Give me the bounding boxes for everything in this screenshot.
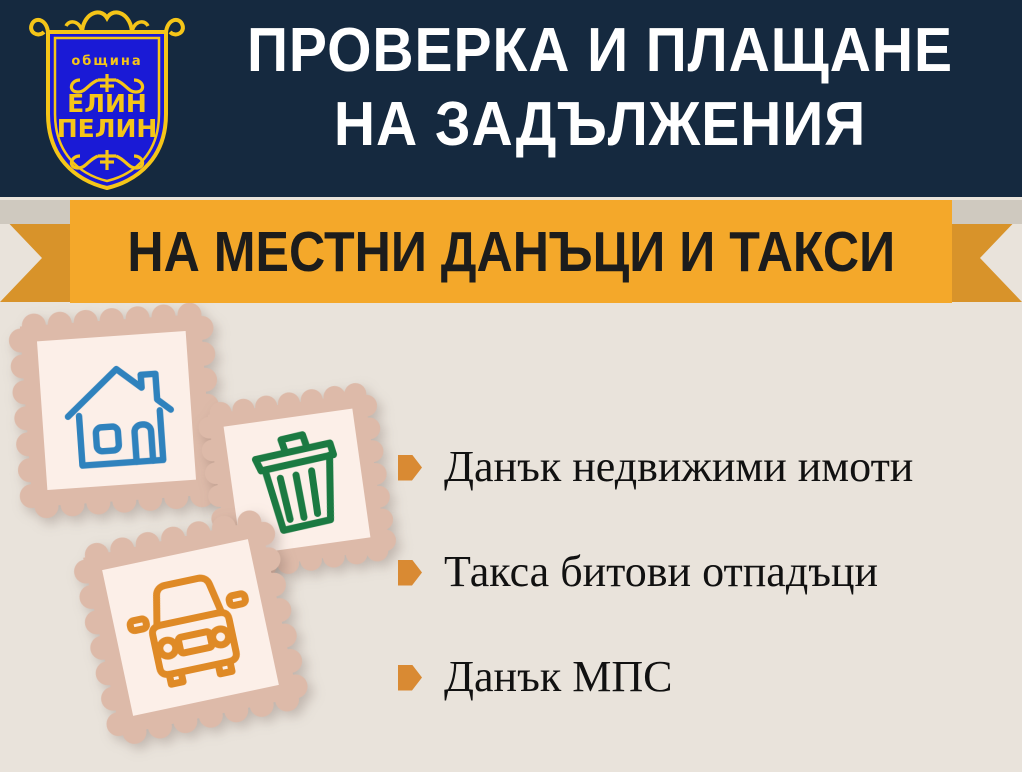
list-item-label: Данък недвижими имоти xyxy=(444,444,913,490)
title-line-2: НА ЗАДЪЛЖЕНИЯ xyxy=(223,88,977,162)
stamp-card-house xyxy=(7,301,226,520)
list-item-label: Такса битови отпадъци xyxy=(444,549,878,595)
page-title: ПРОВЕРКА И ПЛАЩАНЕ НА ЗАДЪЛЖЕНИЯ xyxy=(190,14,1010,162)
ribbon-label: НА МЕСТНИ ДАНЪЦИ И ТАКСИ xyxy=(127,219,895,285)
arrow-bullet-icon xyxy=(398,665,422,691)
subtitle-ribbon: НА МЕСТНИ ДАНЪЦИ И ТАКСИ xyxy=(0,200,1022,305)
title-line-1: ПРОВЕРКА И ПЛАЩАНЕ xyxy=(223,14,977,88)
arrow-bullet-icon xyxy=(398,560,422,586)
tax-type-list: Данък недвижими имоти Такса битови отпад… xyxy=(398,415,1008,730)
list-item[interactable]: Такса битови отпадъци xyxy=(398,520,1008,625)
municipality-logo: община ЕЛИН ПЕЛИН xyxy=(22,4,192,194)
list-item[interactable]: Данък МПС xyxy=(398,625,1008,730)
poster-canvas: община ЕЛИН ПЕЛИН ПРОВЕРКА И ПЛАЩАНЕ НА … xyxy=(0,0,1022,772)
stamp-card-group xyxy=(0,300,420,772)
list-item[interactable]: Данък недвижими имоти xyxy=(398,415,1008,520)
logo-label-name: ЕЛИН ПЕЛИН xyxy=(22,92,192,141)
ribbon-band: НА МЕСТНИ ДАНЪЦИ И ТАКСИ xyxy=(70,200,952,303)
logo-label-obshtina: община xyxy=(22,54,192,69)
arrow-bullet-icon xyxy=(398,455,422,481)
header-bar: община ЕЛИН ПЕЛИН ПРОВЕРКА И ПЛАЩАНЕ НА … xyxy=(0,0,1022,197)
list-item-label: Данък МПС xyxy=(444,654,672,700)
logo-name-line1: ЕЛИН xyxy=(22,92,192,117)
logo-name-line2: ПЕЛИН xyxy=(22,117,192,142)
stamp-card-car xyxy=(69,506,312,749)
